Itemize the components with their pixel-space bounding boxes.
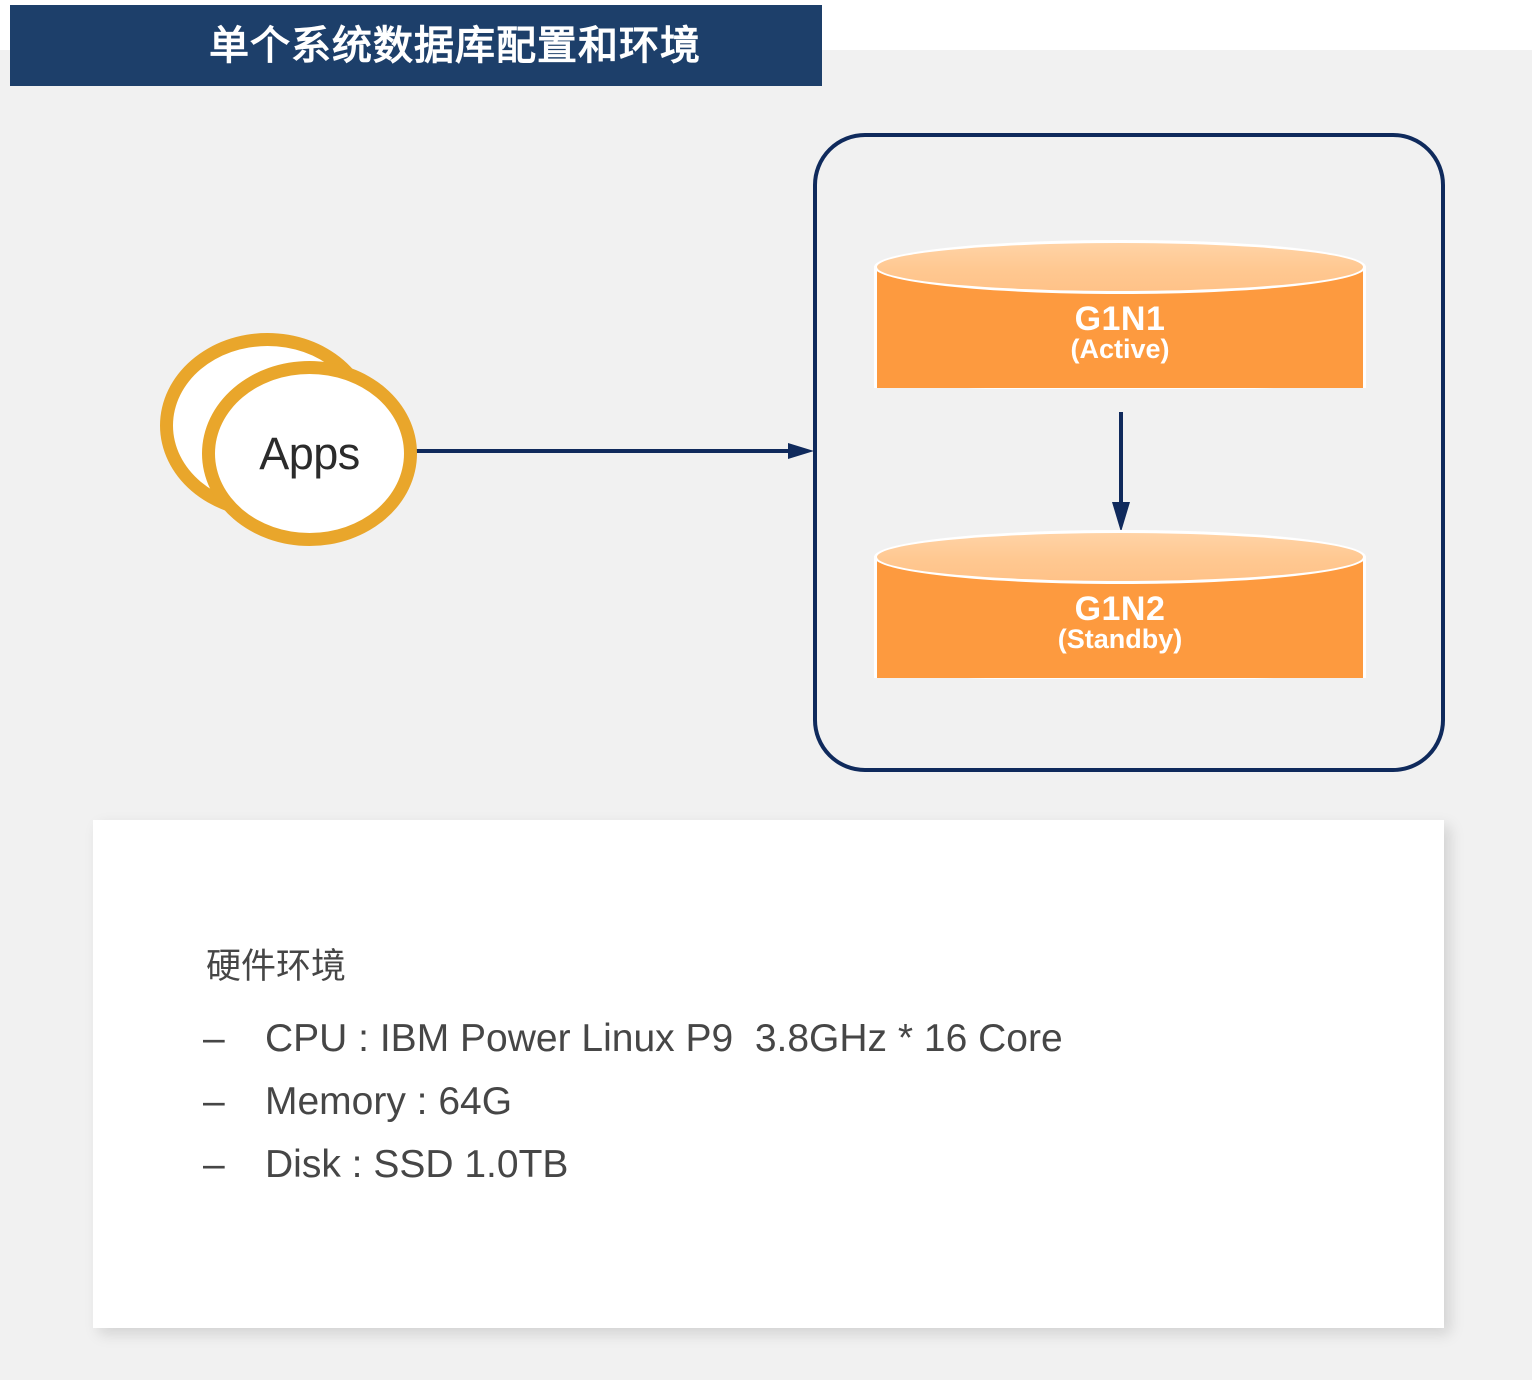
- database-state: (Standby): [874, 626, 1366, 653]
- replication-arrow-icon: [1112, 412, 1130, 534]
- apps-to-cluster-arrow-icon: [414, 443, 814, 459]
- arrow-head: [1112, 502, 1130, 532]
- cylinder-top: [874, 240, 1366, 294]
- bullet-marker: –: [203, 1070, 265, 1133]
- arrow-shaft: [1119, 412, 1123, 508]
- apps-node[interactable]: Apps: [160, 333, 425, 553]
- hardware-spec-heading: 硬件环境: [203, 938, 1063, 989]
- database-node-g1n2-text: G1N2 (Standby): [874, 592, 1366, 653]
- apps-node-label: Apps: [202, 361, 417, 546]
- list-item-label: Memory : 64G: [265, 1070, 512, 1133]
- database-node-g1n1-text: G1N1 (Active): [874, 302, 1366, 363]
- database-name: G1N1: [874, 302, 1366, 336]
- bullet-marker: –: [203, 1133, 265, 1196]
- slide-canvas: 单个系统数据库配置和环境 Apps G1N1 (Active) G1N2 (St: [0, 0, 1532, 1380]
- hardware-spec-card: 硬件环境 – CPU : IBM Power Linux P9 3.8GHz *…: [93, 820, 1444, 1328]
- list-item: – CPU : IBM Power Linux P9 3.8GHz * 16 C…: [203, 1007, 1063, 1070]
- bullet-marker: –: [203, 1007, 265, 1070]
- list-item: – Memory : 64G: [203, 1070, 1063, 1133]
- page-title: 单个系统数据库配置和环境: [131, 26, 701, 66]
- cylinder-top: [874, 530, 1366, 584]
- list-item: – Disk : SSD 1.0TB: [203, 1133, 1063, 1196]
- hardware-spec-list: – CPU : IBM Power Linux P9 3.8GHz * 16 C…: [203, 1007, 1063, 1197]
- database-state: (Active): [874, 336, 1366, 363]
- slide-title-banner: 单个系统数据库配置和环境: [10, 5, 822, 86]
- arrow-shaft: [414, 449, 796, 453]
- database-node-g1n2[interactable]: G1N2 (Standby): [874, 530, 1366, 700]
- hardware-spec-content: 硬件环境 – CPU : IBM Power Linux P9 3.8GHz *…: [203, 938, 1063, 1197]
- list-item-label: Disk : SSD 1.0TB: [265, 1133, 568, 1196]
- arrow-head: [788, 443, 814, 459]
- database-name: G1N2: [874, 592, 1366, 626]
- list-item-label: CPU : IBM Power Linux P9 3.8GHz * 16 Cor…: [265, 1007, 1063, 1070]
- database-node-g1n1[interactable]: G1N1 (Active): [874, 240, 1366, 410]
